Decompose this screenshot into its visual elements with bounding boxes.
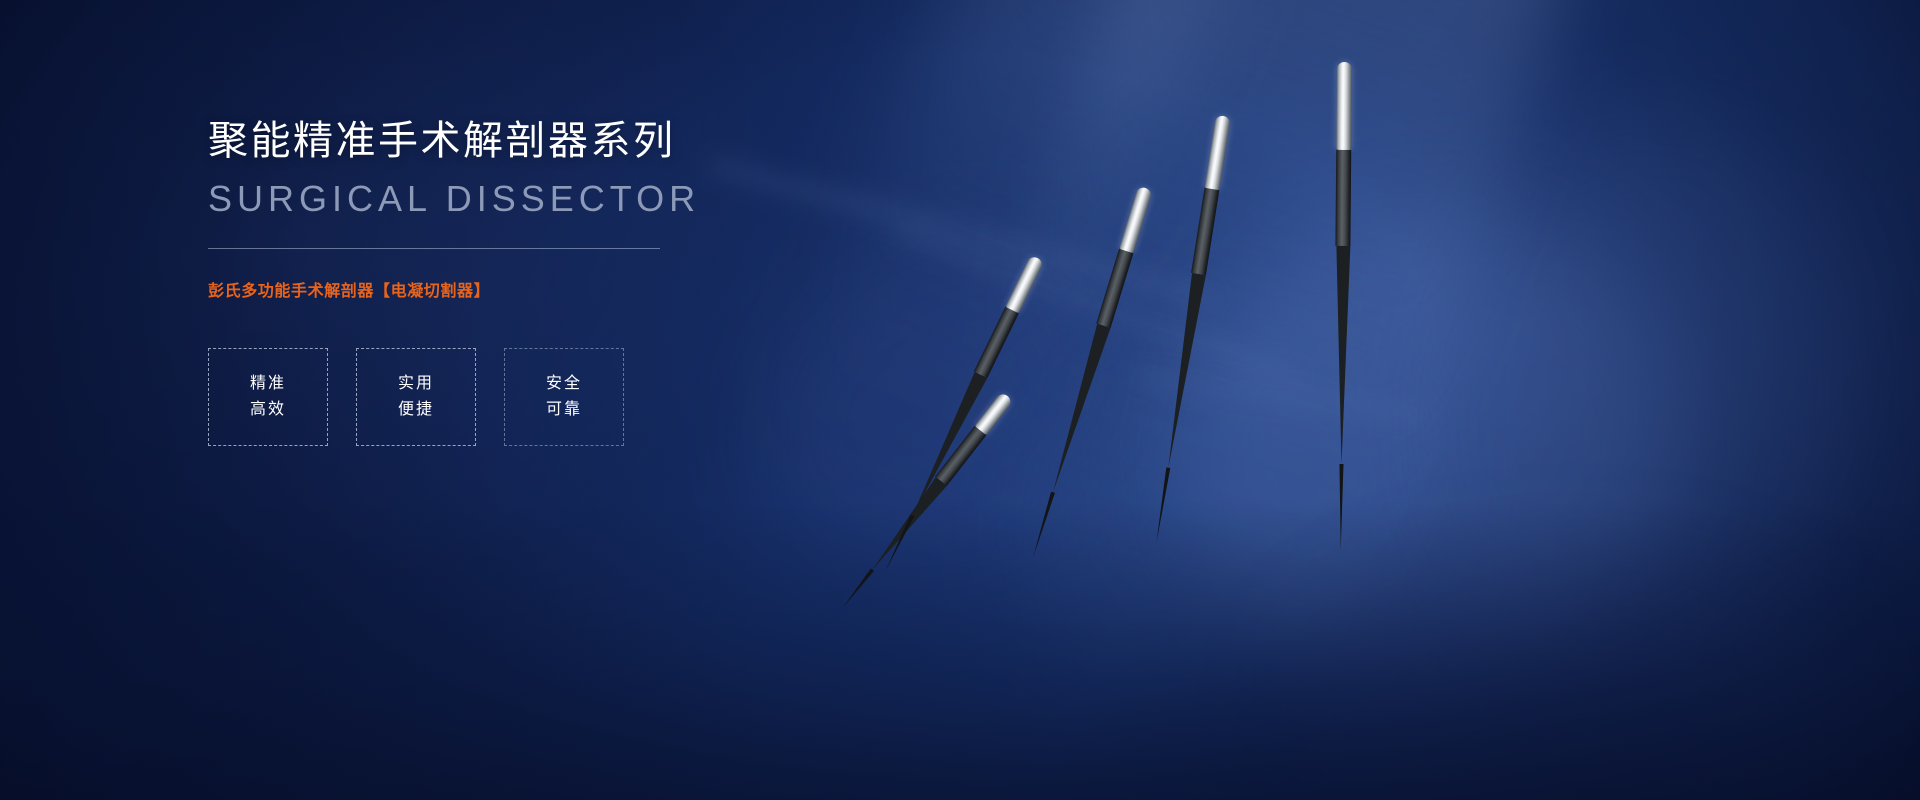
background-blur-shape [1375,87,1896,713]
feature-box-group: 精准 高效 实用 便捷 安全 可靠 [208,348,828,446]
product-tagline: 彭氏多功能手术解剖器【电凝切割器】 [208,282,828,303]
probe-tip [841,568,874,608]
probe-neck [974,307,1019,378]
feature-label-line1: 实用 [398,375,434,393]
feature-box-precision[interactable]: 精准 高效 [208,348,328,446]
probe-metal-cap [1119,186,1153,254]
probe-neck [1191,188,1219,275]
probe-shaft [1046,324,1110,494]
page-subtitle-english: SURGICAL DISSECTOR [208,177,828,220]
probe-metal-cap [1005,255,1044,314]
feature-label-line2: 便捷 [398,401,434,419]
probe-neck [1096,249,1133,328]
probe-tip [883,514,914,571]
divider [208,248,660,249]
probe-shaft [1161,273,1205,469]
surgical-dissector-probe [1333,62,1352,550]
feature-label-line1: 安全 [546,375,582,393]
feature-box-practical[interactable]: 实用 便捷 [356,348,476,446]
feature-label-line1: 精准 [250,375,286,393]
probe-tip [1154,467,1170,543]
probe-tip [1031,492,1055,558]
page-title: 聚能精准手术解剖器系列 [208,118,828,165]
surgeon-hand-silhouette [1110,141,1750,749]
banner-text-block: 聚能精准手术解剖器系列 SURGICAL DISSECTOR 彭氏多功能手术解剖… [208,118,828,446]
surgical-dissector-probe [1149,115,1231,544]
probe-neck [935,426,986,486]
feature-box-safety[interactable]: 安全 可靠 [504,348,624,446]
probe-neck [1335,150,1351,246]
probe-metal-cap [1205,115,1231,190]
feature-label-line2: 可靠 [546,401,582,419]
surgical-dissector-probe [1025,186,1152,560]
probe-metal-cap [975,391,1014,435]
surgical-dissector-probe [878,255,1044,574]
probe-shaft [906,372,987,518]
probe-shaft [1334,246,1350,464]
surgical-dissector-probe [837,391,1014,611]
bottom-gradient-overlay [0,500,1920,800]
background-instrument-ghost [891,227,1299,385]
feature-label-line2: 高效 [250,401,286,419]
probe-metal-cap [1336,62,1352,150]
background-instrument-ghost [1131,371,1429,423]
probe-shaft [867,477,947,574]
background-blur-shape [959,252,1490,737]
probe-tip [1338,464,1343,550]
light-beam [948,0,1581,646]
product-banner: 聚能精准手术解剖器系列 SURGICAL DISSECTOR 彭氏多功能手术解剖… [0,0,1920,800]
background-blur-shape [1290,560,1850,800]
